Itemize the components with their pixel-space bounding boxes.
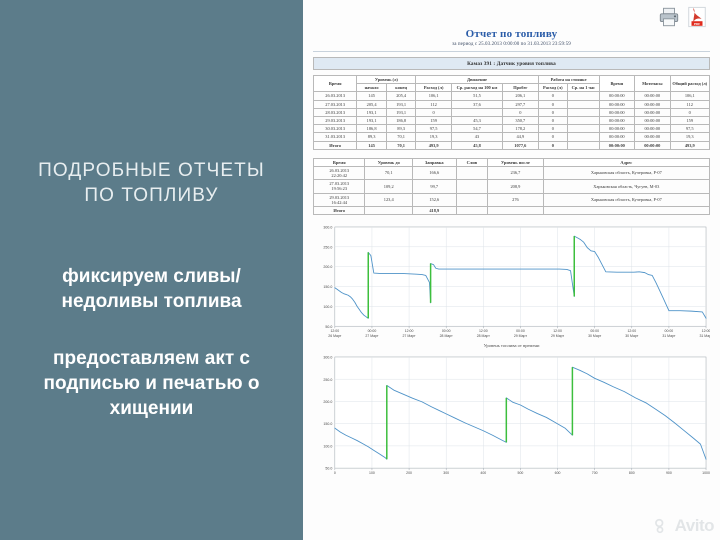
cell-3: 159 [416, 116, 451, 124]
chart1-caption: Уровень топлива от времени [313, 343, 710, 348]
table-row: 28.03.2013193,1193,100000:00:0000:00:000 [314, 108, 710, 116]
report-subtitle: за период с 25.03.2013 0:00:00 по 31.03.… [313, 42, 710, 47]
col-event-time: Время [314, 158, 365, 166]
printer-icon[interactable] [658, 6, 680, 28]
cell-1: 89,3 [357, 133, 387, 141]
promo-heading-line2: ПО ТОПЛИВУ [84, 183, 218, 208]
svg-text:200.0: 200.0 [323, 400, 332, 404]
svg-text:30 Март: 30 Март [625, 334, 639, 338]
svg-text:12:00: 12:00 [553, 329, 562, 333]
cell-8: 00:00:00 [599, 108, 634, 116]
svg-text:300.0: 300.0 [323, 226, 332, 230]
cell-4: 43 [451, 133, 502, 141]
cell-7 [568, 92, 600, 100]
col-drain: Слив [456, 158, 488, 166]
promo-bullet1-line1: фиксируем сливы/ [61, 264, 241, 289]
cell-4: 54,7 [451, 125, 502, 133]
device-title: Камаз 391 : Датчик уровня топлива [313, 57, 710, 70]
svg-text:28 Март: 28 Март [440, 334, 454, 338]
cell-4: 276 [488, 193, 543, 206]
cell-0: 26.03.201322:20:42 [314, 166, 365, 179]
cell-8: 00:00:00 [599, 125, 634, 133]
group-level: Уровень (л) [357, 76, 416, 84]
promo-bullet2: предоставляем акт с подписью и печатью о… [25, 346, 277, 421]
svg-text:200.0: 200.0 [323, 265, 332, 269]
svg-text:400: 400 [480, 471, 486, 475]
svg-text:30 Март: 30 Март [588, 334, 602, 338]
cell-3 [456, 166, 488, 179]
svg-text:12:00: 12:00 [405, 329, 414, 333]
table-row: 27.03.2013205,4193,111237,6297,7000:00:0… [314, 100, 710, 108]
cell-6: 0 [538, 116, 568, 124]
svg-text:0: 0 [334, 471, 336, 475]
cell-4: 45,3 [451, 116, 502, 124]
svg-text:PDF: PDF [694, 22, 700, 26]
cell-5: 297,7 [503, 100, 538, 108]
total-cell-3: 493,9 [416, 141, 451, 149]
group-idle: Работа на стоянке [538, 76, 599, 84]
cell-5: 44,9 [503, 133, 538, 141]
refuel-events-table: Время Уровень до Заправка Слив Уровень п… [313, 158, 710, 216]
svg-text:250.0: 250.0 [323, 378, 332, 382]
col-idle-consumption: Расход (л) [538, 84, 568, 92]
svg-text:12:00: 12:00 [479, 329, 488, 333]
svg-text:29 Март: 29 Март [514, 334, 528, 338]
svg-text:31 Март: 31 Март [662, 334, 676, 338]
svg-text:29 Март: 29 Март [551, 334, 565, 338]
svg-text:31 Март: 31 Март [699, 334, 710, 338]
cell-1: 186,8 [357, 125, 387, 133]
svg-text:27 Март: 27 Март [365, 334, 379, 338]
col-address: Адрес [543, 158, 709, 166]
promo-bullet2-line2: подписью и печатью о [43, 371, 259, 396]
col-engine-hours: Моточасы [635, 76, 670, 92]
col-move-consumption: Расход (л) [416, 84, 451, 92]
svg-text:100: 100 [369, 471, 375, 475]
title-divider [313, 51, 710, 52]
report-sheet: PDF Отчет по топливу за период с 25.03.2… [303, 0, 720, 540]
cell-9: 00:00:00 [635, 125, 670, 133]
table-row: 29.03.2013193,1186,815945,3350,7000:00:0… [314, 116, 710, 124]
svg-text:150.0: 150.0 [323, 285, 332, 289]
total-cell-1 [365, 207, 413, 215]
cell-8: 00:00:00 [599, 92, 634, 100]
svg-text:12:00: 12:00 [330, 329, 339, 333]
svg-text:900: 900 [666, 471, 672, 475]
svg-text:600: 600 [555, 471, 561, 475]
svg-text:800: 800 [629, 471, 635, 475]
svg-text:27 Март: 27 Март [403, 334, 417, 338]
cell-0: 31.03.2013 [314, 133, 357, 141]
cell-3: 97,5 [416, 125, 451, 133]
svg-text:150.0: 150.0 [323, 423, 332, 427]
cell-3: 106,1 [416, 92, 451, 100]
cell-5: Харьковская область, Чугуев, М-03 [543, 180, 709, 193]
cell-0: 29.03.201316:42:44 [314, 193, 365, 206]
cell-2: 166,6 [412, 166, 456, 179]
cell-5: Харьковская область, Кучеровка, Р-07 [543, 193, 709, 206]
svg-text:250.0: 250.0 [323, 246, 332, 250]
cell-9: 00:00:00 [635, 108, 670, 116]
cell-7 [568, 100, 600, 108]
svg-text:100.0: 100.0 [323, 305, 332, 309]
fuel-summary-table: Время Уровень (л) Движение Работа на сто… [313, 75, 710, 150]
cell-5: Харьковская область, Кучеровка, Р-07 [543, 166, 709, 179]
cell-6: 0 [538, 100, 568, 108]
cell-7 [568, 125, 600, 133]
cell-1: 193,1 [357, 108, 387, 116]
promo-bullet2-line1: предоставляем акт с [43, 346, 259, 371]
cell-7 [568, 133, 600, 141]
cell-8: 00:00:00 [599, 133, 634, 141]
cell-7 [568, 116, 600, 124]
col-level-before: Уровень до [365, 158, 413, 166]
col-idle-time: Время [599, 76, 634, 92]
table-total-row: Итого14570,1493,945,81077,6000:00:0000:0… [314, 141, 710, 149]
total-cell-2: 70,1 [386, 141, 416, 149]
col-avg-per-hour: Ср. на 1 час [568, 84, 600, 92]
svg-text:00:00: 00:00 [442, 329, 451, 333]
cell-5: 178,2 [503, 125, 538, 133]
cell-0: 29.03.2013 [314, 116, 357, 124]
table-row: 31.03.201389,370,119,34344,9000:00:0000:… [314, 133, 710, 141]
cell-7 [568, 108, 600, 116]
fuel-level-time-chart: 50.0100.0150.0200.0250.0300.012:0026 Мар… [313, 223, 710, 348]
cell-9: 00:00:00 [635, 116, 670, 124]
refuel-header-row: Время Уровень до Заправка Слив Уровень п… [314, 158, 710, 166]
table-row: 26.03.2013145205,4106,151,5206,1000:00:0… [314, 92, 710, 100]
cell-9: 00:00:00 [635, 92, 670, 100]
cell-1: 70,1 [365, 166, 413, 179]
cell-6: 0 [538, 125, 568, 133]
promo-panel: ПОДРОБНЫЕ ОТЧЕТЫ ПО ТОПЛИВУ фиксируем сл… [0, 0, 303, 540]
svg-text:500: 500 [518, 471, 524, 475]
pdf-icon[interactable]: PDF [686, 6, 708, 28]
refuel-events-body: 26.03.201322:20:4270,1166,6236,7Харьковс… [314, 166, 710, 214]
total-cell-4 [488, 207, 543, 215]
total-cell-5: 1077,6 [503, 141, 538, 149]
cell-10: 19,3 [670, 133, 709, 141]
table-row: 26.03.201322:20:4270,1166,6236,7Харьковс… [314, 166, 710, 179]
cell-1: 109,2 [365, 180, 413, 193]
cell-4: 37,6 [451, 100, 502, 108]
cell-0: 27.03.2013 [314, 100, 357, 108]
avito-watermark-text: Avito [675, 516, 714, 536]
svg-text:00:00: 00:00 [590, 329, 599, 333]
cell-3 [456, 180, 488, 193]
total-cell-1: 145 [357, 141, 387, 149]
cell-1: 205,4 [357, 100, 387, 108]
table-row: 27.03.201319:56:23109,299,7208,9Харьковс… [314, 180, 710, 193]
cell-10: 112 [670, 100, 709, 108]
promo-heading-line1: ПОДРОБНЫЕ ОТЧЕТЫ [38, 158, 265, 183]
promo-bullet1-line2: недоливы топлива [61, 289, 241, 314]
cell-2: 193,1 [386, 108, 416, 116]
svg-text:200: 200 [406, 471, 412, 475]
svg-text:12:00: 12:00 [627, 329, 636, 333]
svg-text:28 Март: 28 Март [477, 334, 491, 338]
cell-5: 206,1 [503, 92, 538, 100]
svg-text:50.0: 50.0 [325, 467, 332, 471]
svg-text:12:00: 12:00 [702, 329, 710, 333]
cell-10: 159 [670, 116, 709, 124]
total-cell-4: 45,8 [451, 141, 502, 149]
cell-10: 0 [670, 108, 709, 116]
col-time: Время [314, 76, 357, 92]
cell-8: 00:00:00 [599, 100, 634, 108]
table-total-row: Итого418,9 [314, 207, 710, 215]
svg-text:100.0: 100.0 [323, 445, 332, 449]
svg-text:1000: 1000 [702, 471, 710, 475]
cell-9: 00:00:00 [635, 133, 670, 141]
slide-root: ПОДРОБНЫЕ ОТЧЕТЫ ПО ТОПЛИВУ фиксируем сл… [0, 0, 720, 540]
col-total-consumption: Общий расход (л) [670, 76, 709, 92]
cell-0: 27.03.201319:56:23 [314, 180, 365, 193]
fuel-summary-body: 26.03.2013145205,4106,151,5206,1000:00:0… [314, 92, 710, 149]
total-cell-7 [568, 141, 600, 149]
promo-bullet1: фиксируем сливы/ недоливы топлива [43, 264, 259, 314]
fuel-level-distance-chart: 50.0100.0150.0200.0250.0300.001002003004… [313, 353, 710, 480]
total-cell-0: Итого [314, 141, 357, 149]
col-level-start: начало [357, 84, 387, 92]
cell-6: 0 [538, 108, 568, 116]
cell-3: 112 [416, 100, 451, 108]
cell-2: 205,4 [386, 92, 416, 100]
col-level-end: конец [386, 84, 416, 92]
total-cell-5 [543, 207, 709, 215]
cell-4: 208,9 [488, 180, 543, 193]
svg-text:00:00: 00:00 [368, 329, 377, 333]
fuel-level-distance-chart-svg: 50.0100.0150.0200.0250.0300.001002003004… [313, 353, 710, 480]
cell-2: 186,8 [386, 116, 416, 124]
report-title: Отчет по топливу [313, 28, 710, 40]
table-row: 29.03.201316:42:44123,4152,6276Харьковск… [314, 193, 710, 206]
total-cell-6: 0 [538, 141, 568, 149]
cell-6: 0 [538, 92, 568, 100]
cell-0: 26.03.2013 [314, 92, 357, 100]
cell-10: 106,1 [670, 92, 709, 100]
cell-4 [451, 108, 502, 116]
promo-bullet2-line3: хищении [43, 396, 259, 421]
cell-1: 193,1 [357, 116, 387, 124]
cell-2: 89,3 [386, 125, 416, 133]
col-level-after: Уровень после [488, 158, 543, 166]
svg-text:00:00: 00:00 [665, 329, 674, 333]
avito-watermark: Avito [654, 516, 714, 536]
cell-1: 123,4 [365, 193, 413, 206]
report-toolbar: PDF [658, 6, 708, 28]
svg-text:00:00: 00:00 [516, 329, 525, 333]
cell-4: 236,7 [488, 166, 543, 179]
group-header-row: Время Уровень (л) Движение Работа на сто… [314, 76, 710, 84]
cell-2: 193,1 [386, 100, 416, 108]
col-avg-per-100: Ср. расход на 100 км [451, 84, 502, 92]
total-cell-10: 493,9 [670, 141, 709, 149]
cell-3: 0 [416, 108, 451, 116]
group-movement: Движение [416, 76, 538, 84]
total-cell-0: Итого [314, 207, 365, 215]
cell-9: 00:00:00 [635, 100, 670, 108]
cell-5: 350,7 [503, 116, 538, 124]
cell-3: 19,3 [416, 133, 451, 141]
total-cell-3 [456, 207, 488, 215]
cell-2: 99,7 [412, 180, 456, 193]
col-refuel: Заправка [412, 158, 456, 166]
cell-0: 30.03.2013 [314, 125, 357, 133]
total-cell-8: 00:00:00 [599, 141, 634, 149]
fuel-summary-head: Время Уровень (л) Движение Работа на сто… [314, 76, 710, 92]
svg-text:300.0: 300.0 [323, 356, 332, 360]
cell-1: 145 [357, 92, 387, 100]
svg-text:300: 300 [443, 471, 449, 475]
total-cell-2: 418,9 [412, 207, 456, 215]
col-mileage: Пробег [503, 84, 538, 92]
cell-3 [456, 193, 488, 206]
cell-2: 152,6 [412, 193, 456, 206]
fuel-level-time-chart-svg: 50.0100.0150.0200.0250.0300.012:0026 Мар… [313, 223, 710, 342]
svg-text:700: 700 [592, 471, 598, 475]
total-cell-9: 00:00:00 [635, 141, 670, 149]
cell-0: 28.03.2013 [314, 108, 357, 116]
cell-8: 00:00:00 [599, 116, 634, 124]
cell-5: 0 [503, 108, 538, 116]
cell-6: 0 [538, 133, 568, 141]
refuel-events-head: Время Уровень до Заправка Слив Уровень п… [314, 158, 710, 166]
cell-2: 70,1 [386, 133, 416, 141]
svg-text:26 Март: 26 Март [328, 334, 342, 338]
cell-10: 97,5 [670, 125, 709, 133]
table-row: 30.03.2013186,889,397,554,7178,2000:00:0… [314, 125, 710, 133]
cell-4: 51,5 [451, 92, 502, 100]
